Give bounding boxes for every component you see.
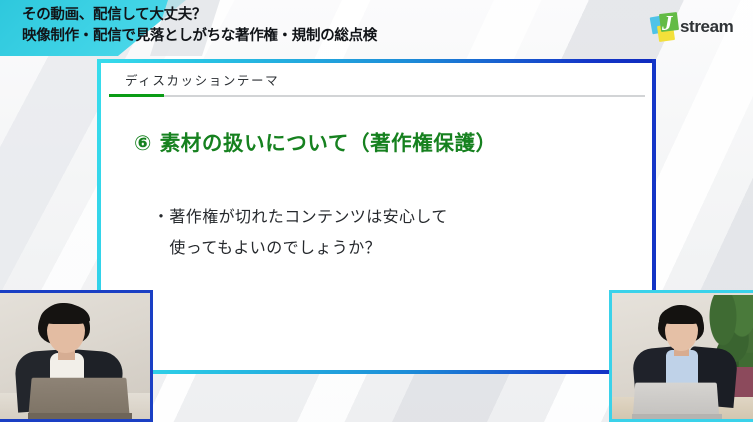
video-feed-left	[0, 293, 150, 419]
jstream-logo[interactable]: J stream	[651, 9, 747, 45]
slide-content: ディスカッションテーマ ⑥ 素材の扱いについて（著作権保護） ・著作権が切れたコ…	[101, 63, 652, 370]
presentation-slide[interactable]: ディスカッションテーマ ⑥ 素材の扱いについて（著作権保護） ・著作権が切れたコ…	[97, 59, 656, 374]
slide-section-header: ディスカッションテーマ	[101, 63, 652, 96]
slide-section-label: ディスカッションテーマ	[125, 70, 279, 89]
slide-title: ⑥ 素材の扱いについて（著作権保護）	[134, 126, 497, 156]
jstream-logo-mark: J	[651, 12, 683, 42]
header-bar: その動画、配信して大丈夫？ 映像制作・配信で見落としがちな著作権・規制の総点検 …	[0, 0, 753, 56]
video-tile-left[interactable]	[0, 290, 153, 422]
slide-border-bottom	[97, 370, 656, 374]
left-person-laptop-base	[28, 413, 132, 419]
page-title: その動画、配信して大丈夫？ 映像制作・配信で見落としがちな著作権・規制の総点検	[22, 5, 622, 47]
left-person-laptop	[28, 378, 130, 418]
slide-accent-rule	[109, 94, 164, 97]
logo-letter-j: J	[662, 11, 673, 35]
logo-wordmark: stream	[680, 17, 733, 37]
video-feed-right	[612, 293, 753, 419]
slide-divider-rule	[109, 95, 645, 97]
slide-body-text: ・著作権が切れたコンテンツは安心して 使ってもよいのでしょうか？	[153, 201, 623, 263]
video-tile-right[interactable]	[609, 290, 753, 422]
webinar-screen: その動画、配信して大丈夫？ 映像制作・配信で見落としがちな著作権・規制の総点検 …	[0, 0, 753, 422]
right-person-laptop-base	[632, 414, 722, 419]
